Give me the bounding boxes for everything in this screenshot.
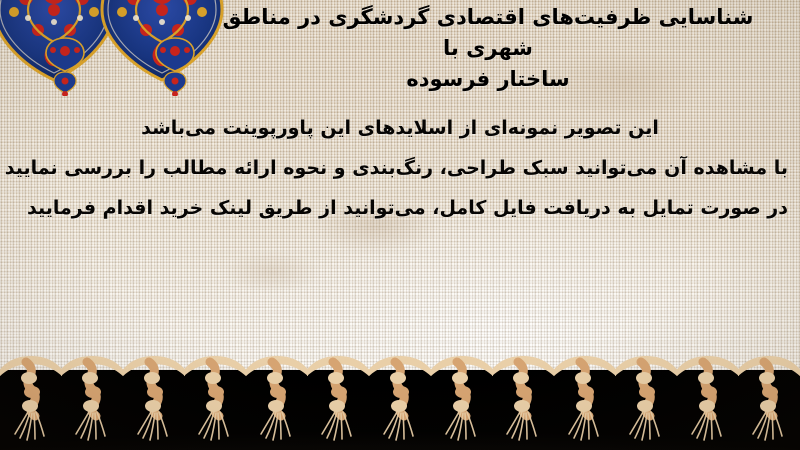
slide-title: شناسایی ظرفیت‌های اقتصادی گردشگری در منا… <box>188 2 788 95</box>
persian-carpet-pendant-left <box>42 36 88 96</box>
body-line-2: با مشاهده آن می‌توانید سبک طراحی، رنگ‌بن… <box>12 148 788 188</box>
slide-title-line-1: شناسایی ظرفیت‌های اقتصادی گردشگری در منا… <box>188 2 788 64</box>
slide-body-text: این تصویر نمونه‌ای از اسلایدهای این پاور… <box>12 108 788 228</box>
body-line-3: در صورت تمایل به دریافت فایل کامل، می‌تو… <box>12 188 788 228</box>
slide-title-line-2: ساختار فرسوده <box>188 64 788 95</box>
black-bottom-band <box>0 370 800 450</box>
slide-canvas: شناسایی ظرفیت‌های اقتصادی گردشگری در منا… <box>0 0 800 450</box>
body-line-1: این تصویر نمونه‌ای از اسلایدهای این پاور… <box>12 108 788 148</box>
